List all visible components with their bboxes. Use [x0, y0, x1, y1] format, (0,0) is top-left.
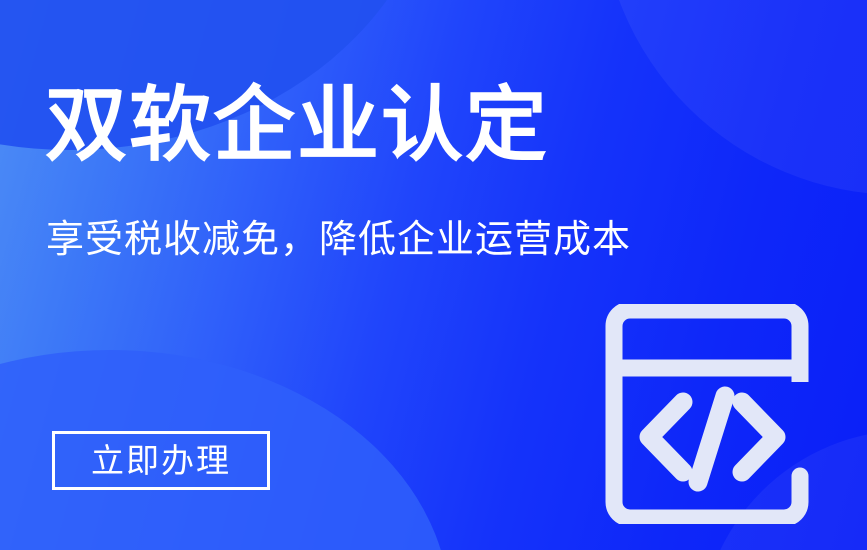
banner-content: 双软企业认定 享受税收减免，降低企业运营成本 立即办理 [0, 0, 867, 550]
banner-subheadline: 享受税收减免，降低企业运营成本 [46, 214, 631, 266]
apply-now-button[interactable]: 立即办理 [52, 431, 270, 490]
banner-headline: 双软企业认定 [45, 78, 549, 174]
code-window-icon [592, 304, 822, 524]
promo-banner: 双软企业认定 享受税收减免，降低企业运营成本 立即办理 [0, 0, 867, 550]
